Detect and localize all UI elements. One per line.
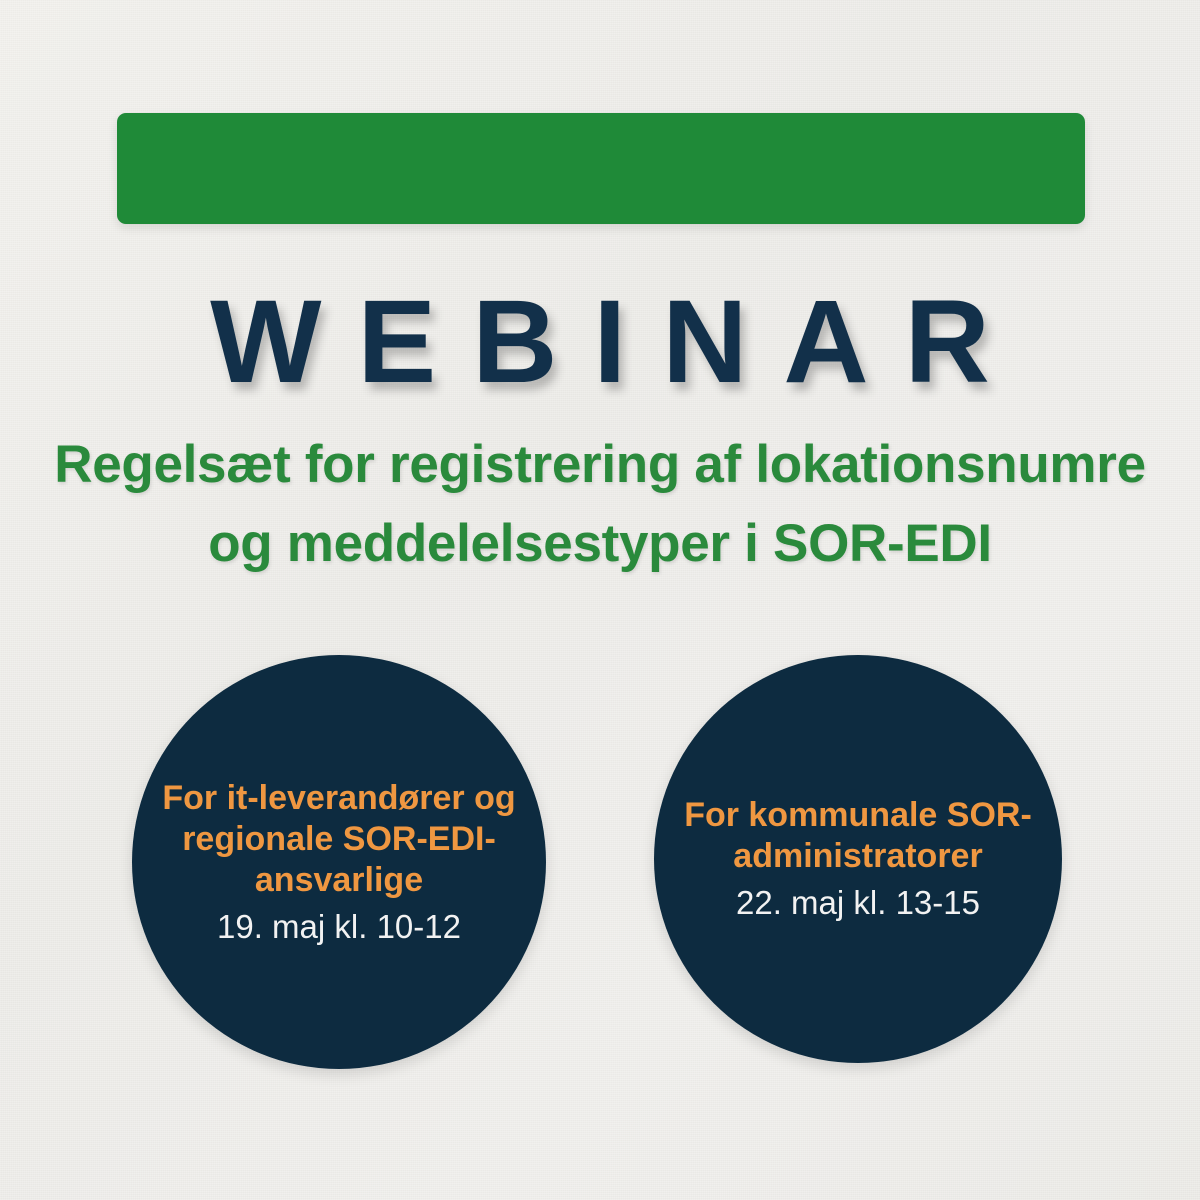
session-audience-label: For kommunale SOR-administratorer xyxy=(676,795,1040,877)
top-green-banner xyxy=(117,113,1085,224)
session-datetime-label: 22. maj kl. 13-15 xyxy=(736,883,980,923)
session-badge-kommunale-sor-administratorer: For kommunale SOR-administratorer 22. ma… xyxy=(654,655,1062,1063)
poster-canvas: WEBINAR Regelsæt for registrering af lok… xyxy=(0,0,1200,1200)
page-title: WEBINAR xyxy=(0,283,1200,401)
session-audience-label: For it-leverandører og regionale SOR-EDI… xyxy=(158,778,520,901)
session-datetime-label: 19. maj kl. 10-12 xyxy=(217,907,461,947)
subtitle: Regelsæt for registrering af lokationsnu… xyxy=(0,425,1200,583)
subtitle-line-2: og meddelelsestyper i SOR-EDI xyxy=(0,504,1200,583)
subtitle-line-1: Regelsæt for registrering af lokationsnu… xyxy=(0,425,1200,504)
session-badge-it-leverandoerer: For it-leverandører og regionale SOR-EDI… xyxy=(132,655,546,1069)
